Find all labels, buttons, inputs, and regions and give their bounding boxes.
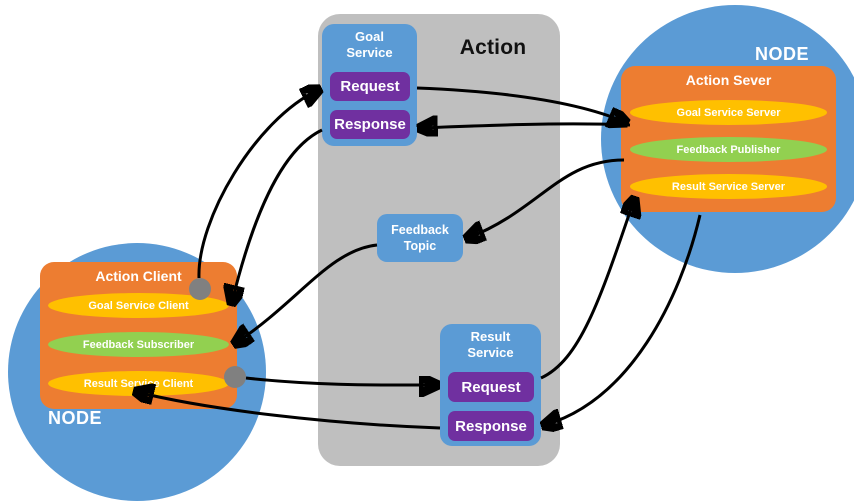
goal-response-box[interactable]: Response xyxy=(330,110,410,139)
feedback-topic-box[interactable]: Feedback Topic xyxy=(377,214,463,262)
result-service-title-line1: Result xyxy=(471,329,511,344)
node-label-client: NODE xyxy=(48,408,102,429)
result-service-client-pill[interactable]: Result Service Client xyxy=(48,371,229,396)
result-service-box: Result Service Request Response xyxy=(440,324,541,446)
feedback-publisher-pill[interactable]: Feedback Publisher xyxy=(630,137,827,162)
action-server-panel: Action Sever Goal Service Server Feedbac… xyxy=(621,66,836,212)
result-request-box[interactable]: Request xyxy=(448,372,534,402)
action-server-title: Action Sever xyxy=(621,72,836,88)
result-service-title: Result Service xyxy=(440,329,541,361)
goal-service-title-line1: Goal xyxy=(355,29,384,44)
goal-service-client-endpoint-dot xyxy=(189,278,211,300)
result-service-title-line2: Service xyxy=(467,345,513,360)
feedback-topic-line2: Topic xyxy=(404,239,436,253)
goal-service-server-pill[interactable]: Goal Service Server xyxy=(630,100,827,125)
goal-service-box: Goal Service Request Response xyxy=(322,24,417,146)
feedback-subscriber-pill[interactable]: Feedback Subscriber xyxy=(48,332,229,357)
goal-service-title: Goal Service xyxy=(322,29,417,61)
goal-request-box[interactable]: Request xyxy=(330,72,410,101)
action-container-label: Action xyxy=(438,36,548,60)
goal-service-title-line2: Service xyxy=(346,45,392,60)
result-service-server-pill[interactable]: Result Service Server xyxy=(630,174,827,199)
node-label-server: NODE xyxy=(755,44,809,65)
result-response-box[interactable]: Response xyxy=(448,411,534,441)
diagram-canvas: Action NODE Action Client Goal Service C… xyxy=(0,0,854,480)
arrow-goal-response-to-client xyxy=(232,130,322,302)
arrow-goal-client-to-request xyxy=(199,90,318,278)
result-service-client-endpoint-dot xyxy=(224,366,246,388)
feedback-topic-line1: Feedback xyxy=(391,223,449,237)
feedback-topic-label: Feedback Topic xyxy=(391,222,449,254)
